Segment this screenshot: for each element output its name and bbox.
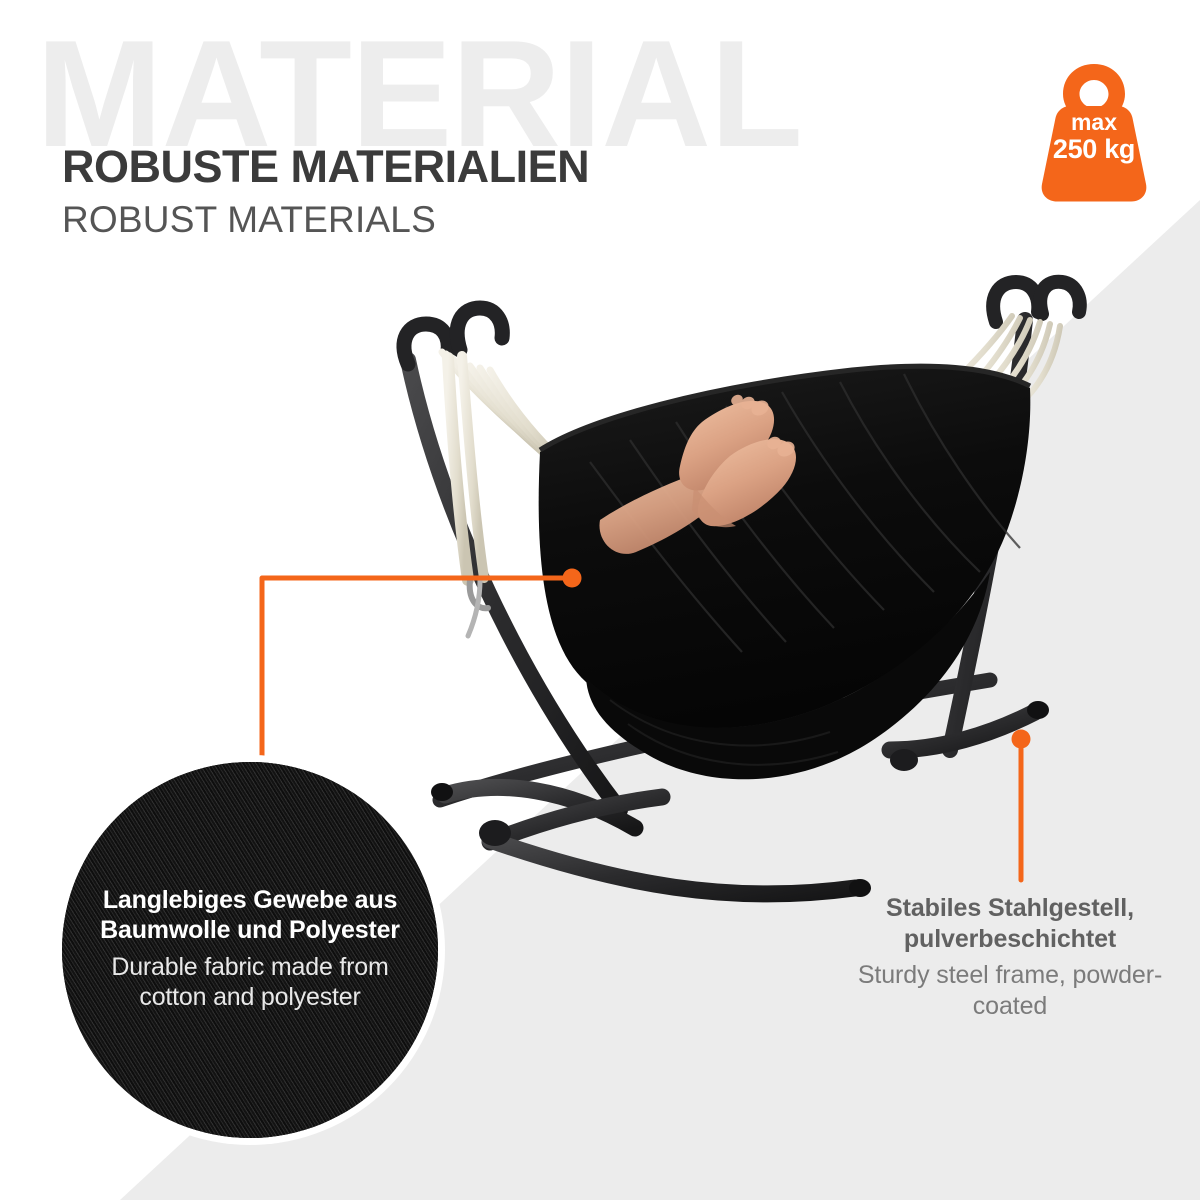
page-title-en: ROBUST MATERIALS — [62, 201, 589, 240]
callout-left-path — [250, 568, 580, 773]
callout-dot-fabric — [563, 569, 582, 588]
callout-right-path — [1008, 728, 1034, 883]
callout-line-frame — [1008, 728, 1034, 883]
infographic-page: MATERIAL ROBUSTE MATERIALIEN ROBUST MATE… — [0, 0, 1200, 1200]
weight-kettlebell-icon — [1027, 58, 1161, 202]
fabric-caption-en: Durable fabric made from cotton and poly… — [85, 952, 415, 1012]
fabric-detail-circle: Langlebiges Gewebe aus Baumwolle und Pol… — [62, 762, 438, 1138]
hammock-hook-right — [993, 282, 1080, 322]
callout-line-fabric — [250, 568, 580, 773]
fabric-caption-de: Langlebiges Gewebe aus Baumwolle und Pol… — [85, 885, 415, 945]
frame-detail-caption: Stabiles Stahlgestell, pulverbeschichtet… — [845, 893, 1175, 1021]
heading-block: ROBUSTE MATERIALIEN ROBUST MATERIALS — [62, 143, 589, 240]
frame-caption-de: Stabiles Stahlgestell, pulverbeschichtet — [845, 893, 1175, 954]
frame-caption-en: Sturdy steel frame, powder-coated — [845, 960, 1175, 1021]
page-title-de: ROBUSTE MATERIALIEN — [62, 143, 589, 190]
callout-dot-frame — [1012, 730, 1031, 749]
max-weight-badge: max 250 kg — [1027, 58, 1161, 202]
fabric-caption-group: Langlebiges Gewebe aus Baumwolle und Pol… — [85, 885, 415, 1016]
